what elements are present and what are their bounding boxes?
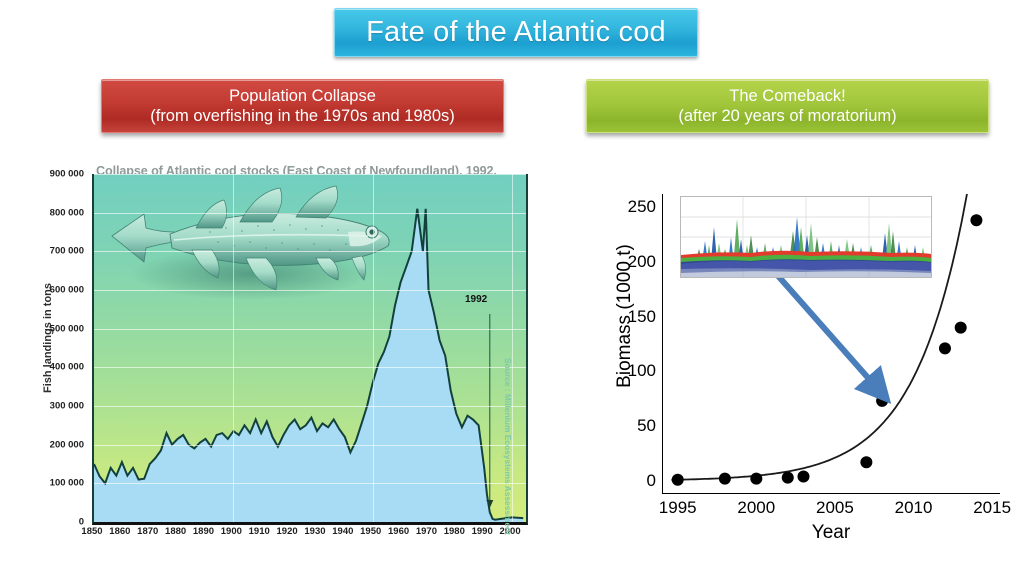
chart-left-xtick: 1990 — [472, 526, 493, 537]
chart-right-x-axis-label: Year — [662, 522, 1000, 544]
chart-left-area — [94, 209, 523, 522]
chart-left-xtick: 1850 — [81, 526, 102, 537]
chart-left-xtick: 1890 — [193, 526, 214, 537]
section-left-line1: Population Collapse — [229, 86, 376, 106]
chart-right-data-point — [876, 395, 888, 407]
chart-left-gridline — [94, 445, 526, 446]
chart-left-ytick: 300 000 — [50, 401, 84, 412]
chart-left-xtick: 1870 — [137, 526, 158, 537]
chart-right-xtick-label: 2010 — [895, 498, 933, 518]
chart-left-xtick: 1960 — [388, 526, 409, 537]
chart-left-gridline — [94, 483, 526, 484]
chart-right-data-point — [782, 472, 794, 484]
chart-right-data-point — [719, 473, 731, 485]
chart-left-y-axis-ticks: 0100 000200 000300 000400 000500 000600 … — [24, 174, 88, 522]
chart-left-xtick: 1880 — [165, 526, 186, 537]
chart-right-xtick-label: 2005 — [816, 498, 854, 518]
chart-left-ytick: 500 000 — [50, 323, 84, 334]
chart-left-ytick: 100 000 — [50, 478, 84, 489]
acoustic-survey-echogram-inset — [680, 196, 932, 278]
chart-left-xtick: 1910 — [249, 526, 270, 537]
chart-left-source-note: Source : Millenium Ecosystems Assessment — [503, 358, 513, 535]
chart-left-xtick: 1930 — [304, 526, 325, 537]
chart-right-xtick-label: 2000 — [737, 498, 775, 518]
chart-right-data-point — [970, 214, 982, 226]
chart-right-data-point — [860, 456, 872, 468]
chart-right-y-axis-ticks: 050100150200250 — [592, 194, 656, 494]
chart-right-xtick-label: 1995 — [659, 498, 697, 518]
chart-left-gridline — [94, 213, 526, 214]
chart-left-xtick: 1950 — [360, 526, 381, 537]
chart-cod-biomass-comeback: Biomass (1000 t) 050100150200250 — [592, 180, 1012, 555]
chart-left-gridline — [94, 406, 526, 407]
page-title-banner: Fate of the Atlantic cod — [334, 8, 698, 57]
chart-right-plot-area — [662, 194, 1000, 494]
chart-right-ytick-label: 100 — [628, 361, 656, 381]
chart-left-ytick: 400 000 — [50, 362, 84, 373]
section-right-line1: The Comeback! — [729, 86, 845, 106]
chart-right-data-point — [672, 474, 684, 486]
echogram-image — [681, 197, 931, 277]
inset-to-datapoint-arrow — [772, 269, 876, 387]
chart-right-data-point — [797, 470, 809, 482]
chart-left-ytick: 200 000 — [50, 439, 84, 450]
chart-right-ytick-label: 0 — [647, 471, 656, 491]
chart-left-ytick: 800 000 — [50, 207, 84, 218]
chart-left-x-axis-ticks: 1850186018701880189019001910192019301940… — [80, 526, 540, 544]
section-header-comeback: The Comeback! (after 20 years of morator… — [586, 79, 989, 133]
chart-left-xtick: 1940 — [332, 526, 353, 537]
chart-right-data-point — [750, 473, 762, 485]
chart-left-gridline — [94, 329, 526, 330]
chart-left-xtick: 1920 — [277, 526, 298, 537]
chart-left-gridline-v — [373, 174, 374, 522]
chart-left-gridline — [94, 174, 526, 175]
page-title: Fate of the Atlantic cod — [366, 16, 666, 49]
chart-left-gridline — [94, 251, 526, 252]
section-header-population-collapse: Population Collapse (from overfishing in… — [101, 79, 504, 133]
chart-left-ytick: 600 000 — [50, 285, 84, 296]
chart-left-gridline — [94, 290, 526, 291]
chart-left-series — [94, 174, 526, 522]
chart-right-xtick-label: 2015 — [973, 498, 1011, 518]
chart-left-ytick: 900 000 — [50, 169, 84, 180]
chart-right-data-point — [939, 342, 951, 354]
section-right-line2: (after 20 years of moratorium) — [678, 106, 896, 126]
chart-right-ytick-label: 200 — [628, 252, 656, 272]
section-left-line2: (from overfishing in the 1970s and 1980s… — [150, 106, 455, 126]
chart-left-ytick: 700 000 — [50, 246, 84, 257]
chart-right-ytick-label: 150 — [628, 307, 656, 327]
chart-left-gridline — [94, 367, 526, 368]
chart-left-plot-area: 1992 — [92, 174, 528, 525]
chart-right-ytick-label: 250 — [628, 197, 656, 217]
chart-left-xtick: 1860 — [109, 526, 130, 537]
chart-right-data-point — [955, 322, 967, 334]
chart-left-xtick: 1900 — [221, 526, 242, 537]
chart-right-x-axis-ticks: 19952000200520102015 — [652, 498, 1012, 518]
chart-collapse-of-atlantic-cod-stocks: Collapse of Atlantic cod stocks (East Co… — [24, 162, 544, 552]
chart-left-gridline-v — [233, 174, 234, 522]
chart-right-ytick-label: 50 — [637, 416, 656, 436]
chart-left-xtick: 1970 — [416, 526, 437, 537]
chart-left-annotation-1992: 1992 — [465, 294, 487, 305]
chart-left-xtick: 1980 — [444, 526, 465, 537]
